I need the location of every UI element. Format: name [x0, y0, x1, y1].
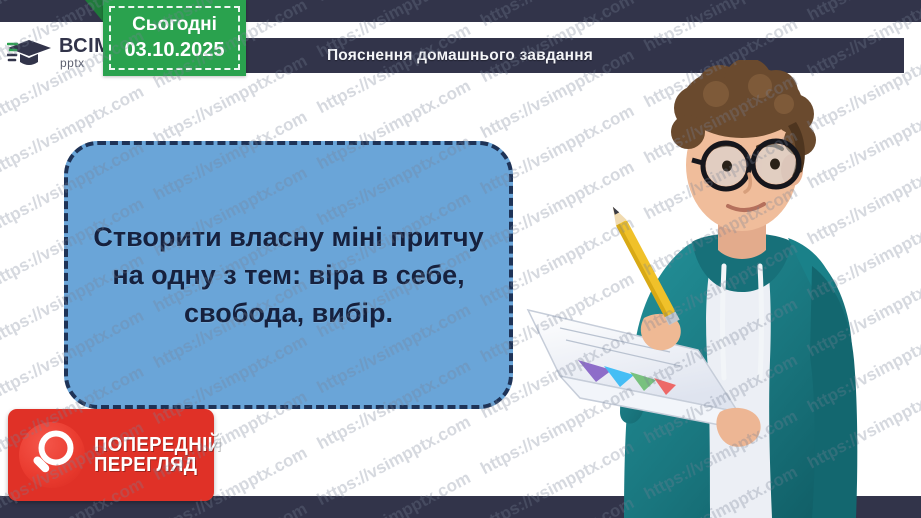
- date-badge-label: Сьогодні: [132, 14, 217, 36]
- date-badge: Сьогодні 03.10.2025: [103, 0, 246, 76]
- student-photo: [520, 60, 920, 518]
- preview-badge[interactable]: ПОПЕРЕДНІЙ ПЕРЕГЛЯД: [8, 409, 214, 501]
- slide-root: Пояснення домашнього завдання: [0, 0, 921, 518]
- task-text: Створити власну міні притчу на одну з те…: [89, 218, 489, 333]
- task-callout-box: Створити власну міні притчу на одну з те…: [64, 141, 513, 409]
- brand-logo[interactable]: ВСІМ pptx: [0, 25, 113, 80]
- date-badge-value: 03.10.2025: [124, 39, 224, 62]
- preview-badge-line2: ПЕРЕГЛЯД: [94, 455, 221, 475]
- preview-badge-line1: ПОПЕРЕДНІЙ: [94, 435, 221, 455]
- magnifier-icon: [19, 422, 85, 488]
- graduation-cap-icon: [7, 36, 55, 70]
